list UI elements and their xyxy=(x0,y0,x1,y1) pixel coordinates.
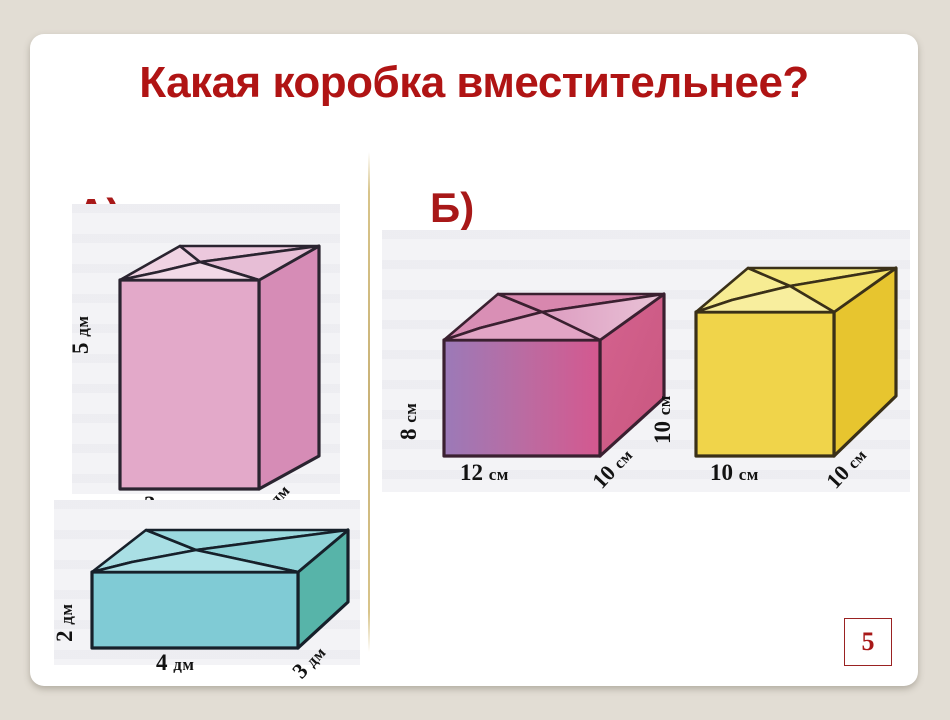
yellow-cube: 10 см 10 см 10 см xyxy=(648,230,928,500)
dim-magenta-height: 8 см xyxy=(396,403,422,440)
section-divider xyxy=(368,152,370,652)
dim-yellow-height: 10 см xyxy=(650,395,676,444)
page-title: Какая коробка вместительнее? xyxy=(30,58,918,108)
dim-teal-width: 4 дм xyxy=(156,650,194,676)
teal-flat-box: 2 дм 4 дм 3 дм xyxy=(54,500,364,680)
slide-number-badge: 5 xyxy=(844,618,892,666)
dim-pink-height: 5 дм xyxy=(68,316,94,354)
dim-teal-height: 2 дм xyxy=(52,604,78,642)
dim-yellow-width: 10 см xyxy=(710,460,759,486)
section-label-b: Б) xyxy=(430,184,474,232)
pink-tall-box: 5 дм 3 дм 2 дм xyxy=(72,204,342,504)
dim-magenta-width: 12 см xyxy=(460,460,509,486)
slide-card: Какая коробка вместительнее? А) 5 дм 3 д… xyxy=(30,34,918,686)
